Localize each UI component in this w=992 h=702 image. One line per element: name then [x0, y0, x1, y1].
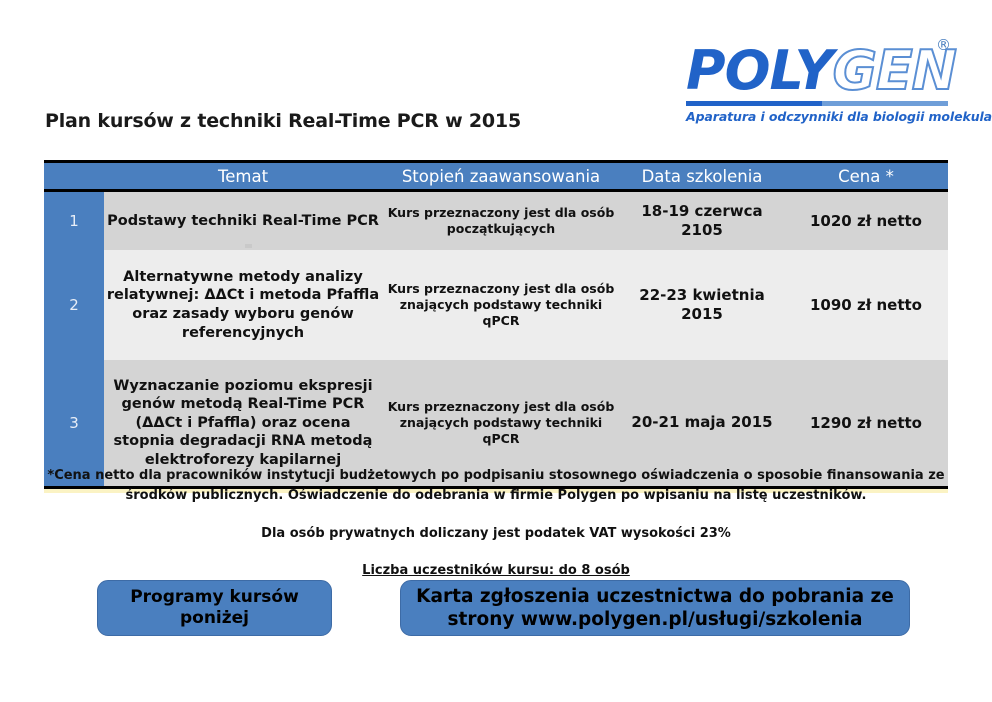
row-level: Kurs przeznaczony jest dla osób początku… [382, 191, 620, 251]
row-date: 18-19 czerwca 2105 [620, 191, 784, 251]
row-number: 1 [44, 191, 104, 251]
row-topic: Alternatywne metody analizy relatywnej: … [104, 250, 382, 360]
page-title: Plan kursów z techniki Real-Time PCR w 2… [45, 110, 521, 132]
courses-table: Temat Stopień zaawansowania Data szkolen… [44, 160, 948, 486]
logo-wordmark: POLYGEN ® [686, 42, 948, 100]
table-row: 1 Podstawy techniki Real-Time PCR Kurs p… [44, 191, 948, 251]
logo-text-poly: POLY [686, 39, 833, 102]
logo-tagline: Aparatura i odczynniki dla biologii mole… [686, 109, 948, 124]
table-artifact-mark [245, 244, 252, 248]
row-topic: Podstawy techniki Real-Time PCR [104, 191, 382, 251]
notes-section: *Cena netto dla pracowników instytucji b… [46, 466, 946, 578]
polygen-logo: POLYGEN ® Aparatura i odczynniki dla bio… [686, 42, 948, 124]
registration-form-button[interactable]: Karta zgłoszenia uczestnictwa do pobrani… [400, 580, 910, 636]
row-price: 1020 zł netto [784, 191, 948, 251]
row-number: 2 [44, 250, 104, 360]
column-header-date: Data szkolenia [620, 162, 784, 191]
registered-trademark-icon: ® [936, 38, 950, 53]
column-header-level: Stopień zaawansowania [382, 162, 620, 191]
row-date: 22-23 kwietnia 2015 [620, 250, 784, 360]
column-header-number [44, 162, 104, 191]
table-header-row: Temat Stopień zaawansowania Data szkolen… [44, 162, 948, 191]
vat-note: Dla osób prywatnych doliczany jest podat… [46, 526, 946, 541]
courses-table-wrapper: Temat Stopień zaawansowania Data szkolen… [44, 160, 948, 493]
participants-note: Liczba uczestników kursu: do 8 osób [46, 563, 946, 578]
programs-button[interactable]: Programy kursów poniżej [97, 580, 332, 636]
price-footnote: *Cena netto dla pracowników instytucji b… [46, 466, 946, 506]
column-header-price: Cena * [784, 162, 948, 191]
column-header-topic: Temat [104, 162, 382, 191]
row-price: 1090 zł netto [784, 250, 948, 360]
row-level: Kurs przeznaczony jest dla osób znającyc… [382, 250, 620, 360]
table-row: 2 Alternatywne metody analizy relatywnej… [44, 250, 948, 360]
